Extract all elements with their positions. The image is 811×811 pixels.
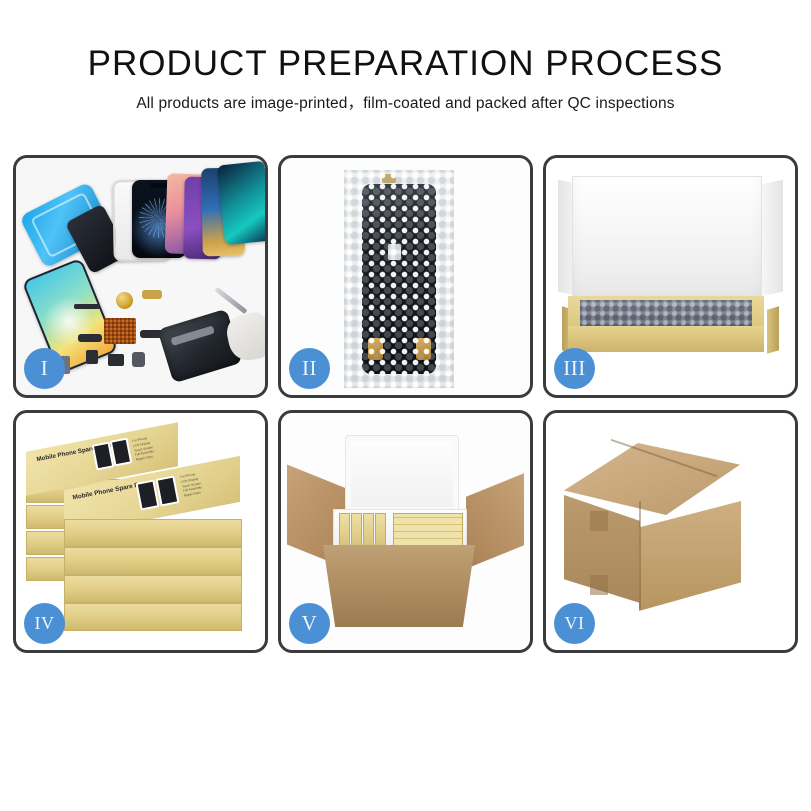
carton-tape-lower xyxy=(590,575,608,595)
step-badge-6: VI xyxy=(554,603,595,644)
foam-lid xyxy=(345,435,459,513)
process-step-panel-1[interactable]: I xyxy=(13,155,268,398)
camera-module xyxy=(86,350,98,364)
lid-flap-right xyxy=(761,180,783,297)
flex-connector-gold xyxy=(142,290,162,299)
gold-connector-left xyxy=(368,338,383,360)
step-badge-4: IV xyxy=(24,603,65,644)
button-part xyxy=(132,352,145,367)
box-side-right xyxy=(767,306,779,353)
page-header: PRODUCT PREPARATION PROCESS All products… xyxy=(0,0,811,115)
gold-box-front-2 xyxy=(64,547,242,575)
screen-ic-chip xyxy=(388,244,401,260)
process-step-panel-4[interactable]: Mobile Phone Spare Parts For iPhone LCD … xyxy=(13,410,268,653)
process-step-panel-3[interactable]: III xyxy=(543,155,798,398)
gold-box-front xyxy=(568,326,764,352)
copper-mesh-part xyxy=(104,318,136,344)
gold-component xyxy=(116,292,133,309)
step-badge-3: III xyxy=(554,348,595,389)
gold-box-front-4 xyxy=(64,603,242,631)
white-box-lid xyxy=(572,176,762,306)
bubble-wrap-sleeve xyxy=(344,170,454,388)
page-title: PRODUCT PREPARATION PROCESS xyxy=(0,42,811,86)
process-step-grid: I II III xyxy=(13,155,798,750)
vibrator-part xyxy=(108,354,124,366)
speaker-part xyxy=(74,304,100,309)
flex-cable-left xyxy=(78,334,102,342)
process-step-panel-5[interactable]: V xyxy=(278,410,533,653)
carton-vertical-edge xyxy=(639,501,641,609)
step-badge-5: V xyxy=(289,603,330,644)
gold-box-front-3 xyxy=(64,575,242,603)
step-badge-2: II xyxy=(289,348,330,389)
carton-tape-upper xyxy=(590,511,608,531)
top-tape-tab xyxy=(382,174,396,183)
page-subtitle: All products are image-printed，film-coat… xyxy=(0,93,811,115)
step-badge-1: I xyxy=(24,348,65,389)
process-step-panel-6[interactable]: VI xyxy=(543,410,798,653)
carton-body xyxy=(323,545,475,627)
teal-gradient-phone xyxy=(217,161,265,246)
gold-connector-right xyxy=(416,338,431,360)
gold-box-front-1 xyxy=(64,519,242,547)
wrapped-screen-assembly xyxy=(362,184,436,374)
screen-flex-cable xyxy=(388,232,403,358)
process-step-panel-2[interactable]: II xyxy=(278,155,533,398)
